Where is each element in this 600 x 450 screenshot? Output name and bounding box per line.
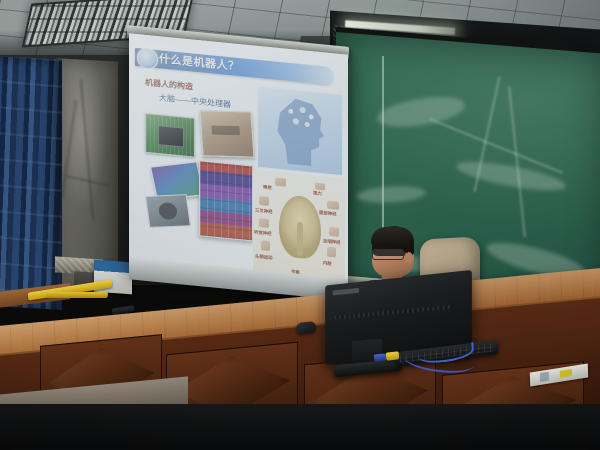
brain-label-icon xyxy=(315,183,325,191)
die-grid xyxy=(200,161,252,240)
brain-label-icon xyxy=(261,240,270,251)
blue-plaid-curtain xyxy=(0,56,62,309)
monitor-brand-mark xyxy=(333,288,359,296)
blue-head-with-gears xyxy=(257,86,343,176)
floor xyxy=(0,404,600,450)
brain-label-icon xyxy=(259,196,269,206)
metal-lid-processor xyxy=(145,194,191,228)
projection-screen: 什么是机器人？ 机器人的构造 大脑——中央处理器 xyxy=(129,33,348,292)
cpu-die-floorplan xyxy=(199,160,253,241)
chalk-line xyxy=(508,86,526,236)
brain-anatomy-diagram: 嗅觉 视力 三叉神经 面部神经 听觉神经 舌咽神经 头颈运动 内脏 平衡 xyxy=(253,169,345,286)
curtain-plaid-pattern xyxy=(0,56,62,309)
brain-label: 听觉神经 xyxy=(254,230,272,238)
slide-heading: 机器人的构造 xyxy=(145,77,193,93)
chalk-smudge xyxy=(374,92,468,132)
ceramic-cpu-package xyxy=(199,110,254,158)
booklet-highlight xyxy=(560,369,572,378)
brain-label-icon xyxy=(275,178,286,187)
yellow-pointer-stick-second[interactable] xyxy=(46,292,108,298)
chalk-smudge xyxy=(455,156,566,196)
yellow-usb-adapter[interactable] xyxy=(386,351,400,360)
green-circuit-board-chip xyxy=(145,113,195,158)
brain-label: 舌咽神经 xyxy=(323,238,341,246)
booklet-image xyxy=(540,372,549,382)
eyeglasses-icon xyxy=(372,249,404,260)
monitor-vent xyxy=(334,305,452,320)
marble-vein xyxy=(80,80,94,220)
presenter-hair-top xyxy=(371,227,414,247)
marble-vein xyxy=(61,100,77,199)
brain-label: 内脏 xyxy=(323,260,332,267)
brain-label: 头颈运动 xyxy=(255,254,273,262)
brain-label: 嗅觉 xyxy=(263,184,272,191)
brain-stem xyxy=(297,222,303,257)
cpu-label xyxy=(211,125,240,135)
brain-label: 面部神经 xyxy=(319,210,337,218)
chip-die xyxy=(158,125,184,148)
eyeglasses-temple xyxy=(400,252,408,253)
blue-usb-adapter[interactable] xyxy=(374,353,387,361)
chalk-smudge xyxy=(355,184,427,204)
gear-cluster-icon xyxy=(284,103,318,130)
presentation-slide: 什么是机器人？ 机器人的构造 大脑——中央处理器 xyxy=(129,33,348,292)
brain-label: 三叉神经 xyxy=(255,208,273,216)
brain-label-icon xyxy=(259,218,269,228)
brain-label: 视力 xyxy=(313,190,322,197)
lecture-hall-photo: 什么是机器人？ 机器人的构造 大脑——中央处理器 xyxy=(0,0,600,450)
slide-subheading: 大脑——中央处理器 xyxy=(159,92,231,110)
brain-label-icon xyxy=(329,227,339,237)
brain-label-icon xyxy=(327,201,339,210)
slide-title: 什么是机器人？ xyxy=(159,51,319,83)
presenter-ear xyxy=(404,252,413,263)
brain-label-icon xyxy=(327,247,336,258)
